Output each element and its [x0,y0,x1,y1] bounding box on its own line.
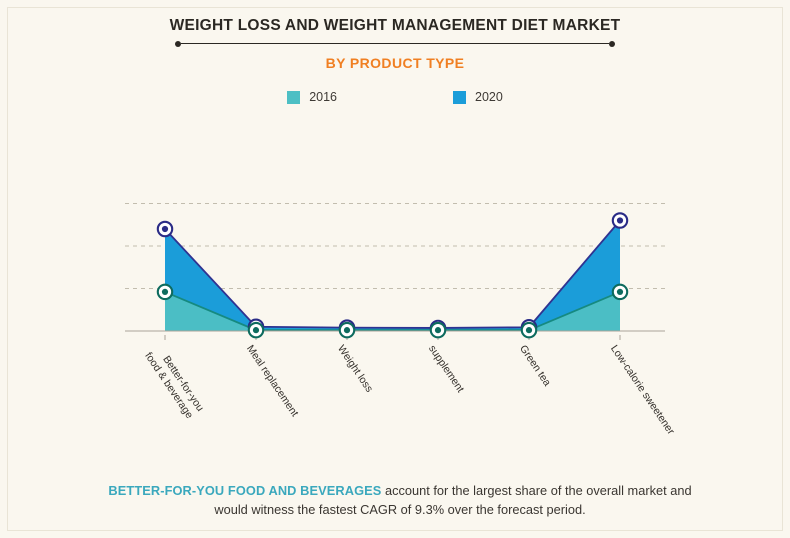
infographic-canvas: WEIGHT LOSS AND WEIGHT MANAGEMENT DIET M… [0,0,790,538]
data-point-marker-2020[interactable] [158,222,172,236]
underline-bar [181,43,609,44]
area-chart-plot [0,118,790,348]
x-axis-label: Low-calorie sweetener [608,343,677,437]
chart-legend: 2016 2020 [0,90,790,104]
page-subtitle: BY PRODUCT TYPE [0,55,790,71]
x-axis-label: Green tea [517,343,553,389]
underline-dot-right-icon [609,41,615,47]
legend-item-2020[interactable]: 2020 [453,90,503,104]
data-point-marker-2016[interactable] [613,285,627,299]
data-point-marker-2016[interactable] [158,285,172,299]
x-axis-label: Meal replacement [244,343,301,419]
area-fill-2020 [165,221,620,332]
x-axis-label: Weight loss [335,343,376,395]
legend-item-2016[interactable]: 2016 [287,90,337,104]
page-title: WEIGHT LOSS AND WEIGHT MANAGEMENT DIET M… [0,17,790,35]
footer-callout: BETTER-FOR-YOU FOOD AND BEVERAGES accoun… [95,481,705,519]
chart-header: WEIGHT LOSS AND WEIGHT MANAGEMENT DIET M… [0,17,790,71]
x-axis-label: Better-for-you food & beverage [142,343,206,421]
x-axis-label: supplement [426,343,467,395]
square-swatch-icon [287,91,300,104]
legend-label: 2020 [475,90,503,104]
data-point-marker-2020[interactable] [613,213,627,227]
square-swatch-icon [453,91,466,104]
x-axis-labels: Better-for-you food & beverageMeal repla… [0,333,790,473]
chart-svg-canvas [0,118,790,348]
title-underline-decoration [175,39,615,48]
legend-label: 2016 [309,90,337,104]
footer-highlight-text: BETTER-FOR-YOU FOOD AND BEVERAGES [108,483,381,498]
